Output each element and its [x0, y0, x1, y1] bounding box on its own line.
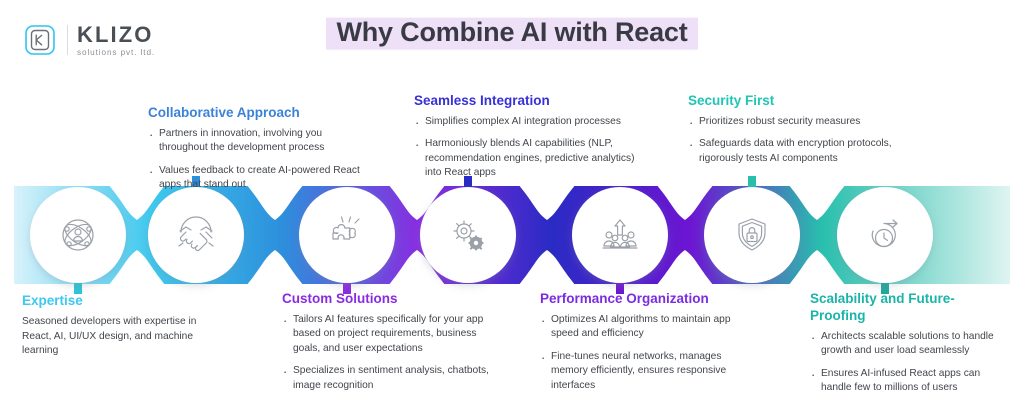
list-item: Prioritizes robust security measures — [688, 115, 933, 129]
list-item: Specializes in sentiment analysis, chatb… — [282, 364, 497, 393]
list-item: Harmoniously blends AI capabilities (NLP… — [414, 137, 639, 180]
list-item: Architects scalable solutions to handle … — [810, 330, 1005, 359]
section-custom-solutions: Custom Solutions Tailors AI features spe… — [282, 291, 497, 401]
section-title-scalability-future-proofing: Scalability and Future-Proofing — [810, 291, 1005, 325]
section-security-first: Security First Prioritizes robust securi… — [688, 93, 933, 174]
section-expertise: Expertise Seasoned developers with exper… — [22, 293, 227, 359]
section-seamless-integration: Seamless Integration Simplifies complex … — [414, 93, 639, 189]
infographic-page: KLIZO solutions pvt. ltd. Why Combine AI… — [0, 0, 1024, 415]
section-title-custom-solutions: Custom Solutions — [282, 291, 497, 308]
list-item: Tailors AI features specifically for you… — [282, 313, 497, 356]
section-body-expertise: Seasoned developers with expertise in Re… — [22, 315, 227, 359]
list-item: Optimizes AI algorithms to maintain app … — [540, 313, 755, 342]
section-title-seamless-integration: Seamless Integration — [414, 93, 639, 110]
list-item: Fine-tunes neural networks, manages memo… — [540, 350, 755, 393]
page-title-text: Why Combine AI with React — [326, 15, 697, 52]
list-item: Safeguards data with encryption protocol… — [688, 137, 933, 166]
section-bullets-collaborative-approach: Partners in innovation, involving you th… — [148, 127, 363, 193]
section-bullets-seamless-integration: Simplifies complex AI integration proces… — [414, 115, 639, 181]
list-item: Ensures AI-infused React apps can handle… — [810, 367, 1005, 396]
section-bullets-performance-organization: Optimizes AI algorithms to maintain app … — [540, 313, 755, 393]
section-title-performance-organization: Performance Organization — [540, 291, 755, 308]
section-title-collaborative-approach: Collaborative Approach — [148, 105, 363, 122]
section-title-security-first: Security First — [688, 93, 933, 110]
section-bullets-scalability-future-proofing: Architects scalable solutions to handle … — [810, 330, 1005, 396]
section-bullets-security-first: Prioritizes robust security measures Saf… — [688, 115, 933, 166]
list-item: Simplifies complex AI integration proces… — [414, 115, 639, 129]
section-bullets-custom-solutions: Tailors AI features specifically for you… — [282, 313, 497, 393]
list-item: Partners in innovation, involving you th… — [148, 127, 363, 156]
section-performance-organization: Performance Organization Optimizes AI al… — [540, 291, 755, 401]
section-title-expertise: Expertise — [22, 293, 227, 310]
list-item: Values feedback to create AI-powered Rea… — [148, 164, 363, 193]
section-scalability-future-proofing: Scalability and Future-Proofing Architec… — [810, 291, 1005, 404]
page-title: Why Combine AI with React — [0, 15, 1024, 52]
section-collaborative-approach: Collaborative Approach Partners in innov… — [148, 105, 363, 201]
